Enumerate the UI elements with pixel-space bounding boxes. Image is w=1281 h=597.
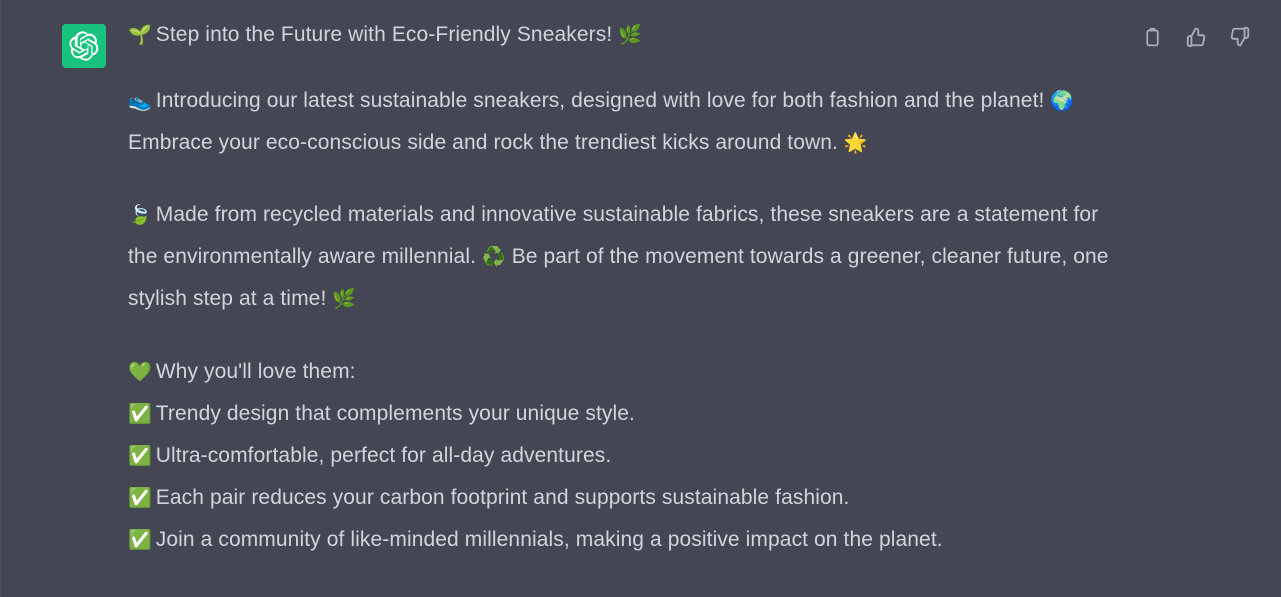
check-mark-button-icon: ✅: [128, 487, 152, 509]
thumbs-up-icon: [1185, 26, 1207, 48]
check-mark-button-icon: ✅: [128, 445, 152, 467]
paragraph-1-text-a: Introducing our latest sustainable sneak…: [156, 89, 1045, 112]
avatar-column: [0, 18, 128, 597]
list-item: ✅Each pair reduces your carbon footprint…: [128, 477, 1121, 519]
green-heart-icon: 💚: [128, 361, 152, 383]
paragraph-1: 👟Introducing our latest sustainable snea…: [128, 80, 1121, 164]
thumbs-down-button[interactable]: [1227, 24, 1253, 50]
list-item: ✅Join a community of like-minded millenn…: [128, 519, 1121, 561]
copy-icon: [1142, 27, 1163, 48]
paragraph-1-text-b: Embrace your eco-conscious side and rock…: [128, 131, 838, 154]
openai-logo-icon: [69, 31, 99, 61]
list-item-text: Join a community of like-minded millenni…: [156, 528, 943, 551]
leaf-fluttering-icon: 🍃: [128, 204, 152, 226]
glowing-star-icon: 🌟: [844, 132, 868, 154]
earth-globe-icon: 🌍: [1050, 90, 1074, 112]
list-item-text: Trendy design that complements your uniq…: [156, 402, 635, 425]
thumbs-up-button[interactable]: [1183, 24, 1209, 50]
seedling-icon: 🌱: [128, 24, 152, 46]
avatar: [62, 24, 106, 68]
left-edge-divider: [0, 0, 1, 597]
benefits-list-heading-text: Why you'll love them:: [156, 360, 356, 383]
check-mark-button-icon: ✅: [128, 529, 152, 551]
list-item-text: Each pair reduces your carbon footprint …: [156, 486, 850, 509]
check-mark-button-icon: ✅: [128, 403, 152, 425]
sneaker-icon: 👟: [128, 90, 152, 112]
message-content: 🌱Step into the Future with Eco-Friendly …: [128, 18, 1281, 597]
list-item: ✅Trendy design that complements your uni…: [128, 393, 1121, 435]
benefits-list-heading: 💚Why you'll love them:: [128, 351, 1121, 393]
copy-button[interactable]: [1139, 24, 1165, 50]
paragraph-2: 🍃Made from recycled materials and innova…: [128, 194, 1121, 320]
assistant-message: 🌱Step into the Future with Eco-Friendly …: [0, 0, 1281, 597]
message-title-text: Step into the Future with Eco-Friendly S…: [156, 23, 613, 46]
list-item-text: Ultra-comfortable, perfect for all-day a…: [156, 444, 612, 467]
message-title: 🌱Step into the Future with Eco-Friendly …: [128, 20, 1121, 50]
herb-icon: 🌿: [618, 24, 642, 46]
benefits-list: 💚Why you'll love them: ✅Trendy design th…: [128, 351, 1121, 561]
recycling-icon: ♻️: [482, 246, 506, 268]
message-actions: [1139, 24, 1253, 50]
thumbs-down-icon: [1229, 26, 1251, 48]
list-item: ✅Ultra-comfortable, perfect for all-day …: [128, 435, 1121, 477]
herb-icon-2: 🌿: [332, 288, 356, 310]
